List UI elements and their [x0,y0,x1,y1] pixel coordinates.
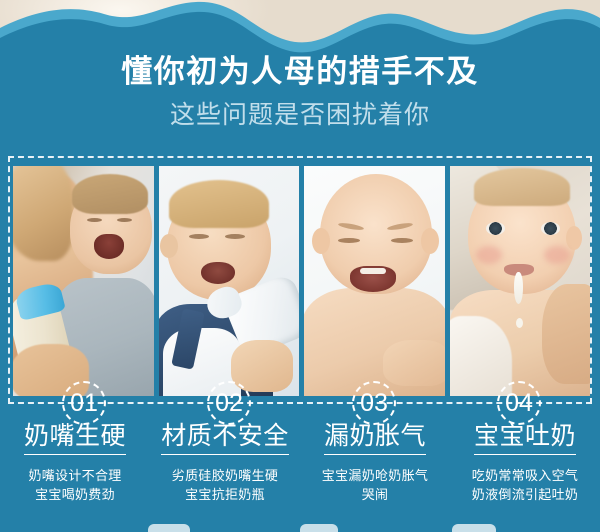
caption-line1-01: 奶嘴设计不合理 [0,466,150,485]
baby-eye-left-04 [486,222,505,235]
baby-ear-02 [160,234,178,258]
caption-line1-04: 吃奶常常吸入空气 [450,466,600,485]
baby-eye-left-01 [87,218,102,222]
number-badge-04: 04 [497,381,541,425]
baby-eye-left-03 [338,238,360,243]
caption-line2-01: 宝宝喝奶费劲 [0,485,150,504]
photo-panel-04 [450,166,591,396]
baby-eye-right-01 [117,218,132,222]
baby-eye-right-04 [541,222,560,235]
photo-panel-02 [159,166,300,396]
caption-line2-03: 哭闹 [300,485,450,504]
photo-row [13,166,590,396]
caption-block-01: 奶嘴生硬 奶嘴设计不合理 宝宝喝奶费劲 [0,420,150,504]
baby-teeth-03 [360,268,386,274]
baby-hair-02 [169,180,269,228]
caption-block-03: 漏奶胀气 宝宝漏奶呛奶胀气 哭闹 [300,420,450,504]
baby-shoulder-04 [542,284,590,384]
caption-title-03: 漏奶胀气 [324,420,426,455]
caption-line2-04: 奶液倒流引起吐奶 [450,485,600,504]
title-block: 懂你初为人母的措手不及 这些问题是否困扰着你 [0,52,600,134]
baby-cheek-right-04 [544,246,570,264]
baby-hair-01 [72,174,148,214]
photo-panel-03 [304,166,445,396]
caption-block-02: 材质不安全 劣质硅胶奶嘴生硬 宝宝抗拒奶瓶 [150,420,300,504]
caption-title-01: 奶嘴生硬 [24,420,126,455]
baby-cheek-left-04 [476,246,502,264]
caption-line1-03: 宝宝漏奶呛奶胀气 [300,466,450,485]
promo-banner-page: 懂你初为人母的措手不及 这些问题是否困扰着你 [0,0,600,532]
baby-crying-mouth-02 [201,262,235,284]
caption-lines-04: 吃奶常常吸入空气 奶液倒流引起吐奶 [450,466,600,504]
baby-eye-left-02 [189,234,209,239]
baby-crying-mouth-01 [94,234,124,259]
milk-dribble-04 [514,272,523,304]
baby-hair-04 [474,168,570,206]
baby-arm-03 [383,340,445,386]
next-section-peek-3 [452,524,496,532]
next-section-peek-1 [148,524,190,532]
baby-ear-04 [566,226,582,250]
baby-eye-right-03 [391,238,413,243]
baby-ear-right-03 [421,228,439,254]
page-subtitle: 这些问题是否困扰着你 [0,96,600,134]
baby-eye-right-02 [225,234,245,239]
caption-lines-01: 奶嘴设计不合理 宝宝喝奶费劲 [0,466,150,504]
caption-title-04: 宝宝吐奶 [474,420,576,455]
number-badge-01: 01 [62,381,106,425]
caption-title-02: 材质不安全 [161,420,289,455]
caption-block-04: 宝宝吐奶 吃奶常常吸入空气 奶液倒流引起吐奶 [450,420,600,504]
number-badge-03: 03 [352,381,396,425]
caption-row: 奶嘴生硬 奶嘴设计不合理 宝宝喝奶费劲 材质不安全 劣质硅胶奶嘴生硬 宝宝抗拒奶… [0,420,600,504]
caption-line1-02: 劣质硅胶奶嘴生硬 [150,466,300,485]
caption-lines-02: 劣质硅胶奶嘴生硬 宝宝抗拒奶瓶 [150,466,300,504]
milk-drop-04 [516,318,523,328]
caption-lines-03: 宝宝漏奶呛奶胀气 哭闹 [300,466,450,504]
number-badge-02: 02 [207,381,251,425]
caption-line2-02: 宝宝抗拒奶瓶 [150,485,300,504]
next-section-peek-2 [300,524,338,532]
page-title: 懂你初为人母的措手不及 [0,52,600,92]
mother-hair [13,166,73,261]
baby-ear-left-03 [312,228,330,254]
photo-panel-01 [13,166,154,396]
